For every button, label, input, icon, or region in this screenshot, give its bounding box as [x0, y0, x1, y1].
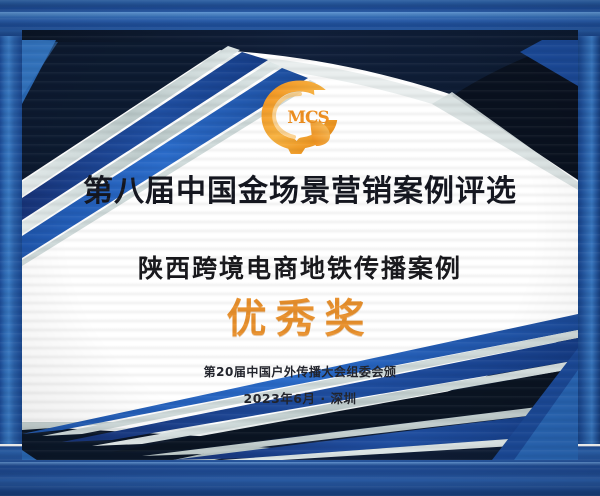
- award-plaque: MCS 第八届中国金场景营销案例评选 陕西跨境电商地铁传播案例 优秀奖 第20届…: [0, 0, 600, 496]
- certificate-footer: 第20届中国户外传播大会组委会颁 2023年6月 · 深圳: [22, 363, 578, 407]
- footer-date-location: 2023年6月 · 深圳: [22, 388, 578, 407]
- certificate-subtitle: 陕西跨境电商地铁传播案例: [22, 249, 578, 285]
- plaque-frame-right: [576, 0, 600, 496]
- logo-letters: MCS: [287, 108, 329, 128]
- certificate-title: 第八届中国金场景营销案例评选: [22, 166, 578, 210]
- award-name: 优秀奖: [22, 286, 578, 344]
- plaque-frame-bottom-highlight: [0, 462, 600, 466]
- cmcs-c-logo-icon: MCS: [252, 80, 348, 154]
- plaque-frame-top-highlight: [0, 12, 600, 17]
- footer-issuer: 第20届中国户外传播大会组委会颁: [22, 363, 578, 380]
